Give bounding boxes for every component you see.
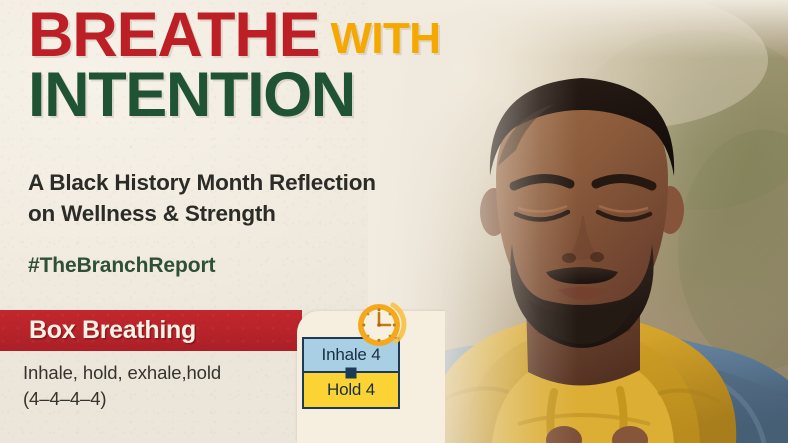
- instruction-line-1: Inhale, hold, exhale,hold: [23, 360, 298, 386]
- technique-banner-label: Box Breathing: [29, 316, 196, 345]
- subtitle-line-1: A Black History Month Reflection: [28, 168, 498, 199]
- headline: BREATHE WITH INTENTION: [28, 8, 548, 122]
- step-box-hold-label: Hold 4: [327, 380, 375, 400]
- step-connector-icon: [346, 368, 357, 379]
- subtitle-line-2: on Wellness & Strength: [28, 199, 498, 230]
- headline-line-1: BREATHE WITH: [28, 8, 548, 62]
- technique-instructions: Inhale, hold, exhale,hold (4–4–4–4): [23, 360, 298, 413]
- headline-word-intention: INTENTION: [28, 68, 355, 122]
- subtitle: A Black History Month Reflection on Well…: [28, 168, 498, 229]
- instruction-line-2: (4–4–4–4): [23, 386, 298, 412]
- headline-word-with: WITH: [330, 20, 440, 58]
- headline-word-breathe: BREATHE: [28, 8, 319, 62]
- wellness-graphic: BREATHE WITH INTENTION A Black History M…: [0, 0, 788, 443]
- headline-line-2: INTENTION: [28, 62, 548, 122]
- technique-banner: Box Breathing: [0, 310, 302, 351]
- hashtag: #TheBranchReport: [28, 254, 215, 278]
- clock-icon: [352, 297, 408, 353]
